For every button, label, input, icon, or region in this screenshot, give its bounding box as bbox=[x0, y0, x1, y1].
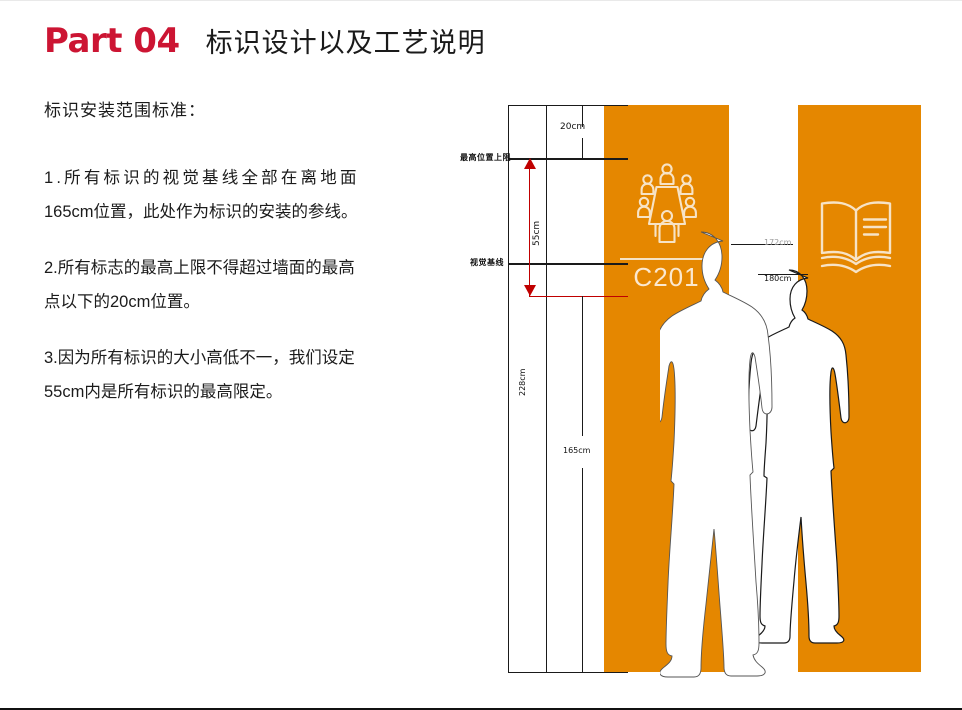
rule-1-line-2: 165cm位置，此处作为标识的安装的参线。 bbox=[44, 195, 444, 229]
part-label: Part 04 bbox=[44, 24, 180, 58]
rule-3-line-1: 3.因为所有标识的大小高低不一，我们设定 bbox=[44, 341, 444, 375]
rule-2-line-2: 点以下的20cm位置。 bbox=[44, 285, 444, 319]
dim-tick-165cm-upper bbox=[582, 296, 583, 436]
dim-label-person-b: 180cm bbox=[764, 274, 791, 283]
dim-line-wall-top bbox=[508, 105, 628, 106]
silhouette-person-a bbox=[660, 232, 772, 677]
dim-label-person-a: 172cm bbox=[764, 238, 791, 247]
rule-paragraph-1: 1.所有标识的视觉基线全部在离地面 165cm位置，此处作为标识的安装的参线。 bbox=[44, 161, 444, 229]
rule-3-line-2: 55cm内是所有标识的最高限定。 bbox=[44, 375, 444, 409]
rule-paragraph-2: 2.所有标志的最高上限不得超过墙面的最高 点以下的20cm位置。 bbox=[44, 251, 444, 319]
rule-paragraph-3: 3.因为所有标识的大小高低不一，我们设定 55cm内是所有标识的最高限定。 bbox=[44, 341, 444, 409]
dim-label-20cm: 20cm bbox=[560, 122, 585, 132]
dim-line-inner bbox=[546, 105, 547, 672]
dim-arrow-head-down bbox=[524, 285, 536, 296]
page-heading: Part 04 标识设计以及工艺说明 bbox=[44, 24, 486, 58]
label-upper-limit: 最高位置上限 bbox=[460, 152, 511, 163]
rule-2-line-1: 2.所有标志的最高上限不得超过墙面的最高 bbox=[44, 251, 444, 285]
dim-line-sign-bottom bbox=[529, 296, 628, 297]
dim-label-55cm: 55cm bbox=[532, 221, 542, 246]
dim-tick-20cm-lower bbox=[582, 138, 583, 158]
dim-arrow-head-up bbox=[524, 158, 536, 169]
rule-1-line-1: 1.所有标识的视觉基线全部在离地面 bbox=[44, 161, 444, 195]
dim-line-floor bbox=[508, 672, 628, 673]
label-visual-baseline: 视觉基线 bbox=[470, 257, 504, 268]
dim-line-visual-baseline bbox=[508, 263, 628, 265]
intro-text: 标识安装范围标准： bbox=[44, 96, 444, 121]
dim-arrow-shaft-55cm bbox=[529, 162, 530, 296]
dim-tick-165cm-lower bbox=[582, 468, 583, 672]
body-copy: 标识安装范围标准： 1.所有标识的视觉基线全部在离地面 165cm位置，此处作为… bbox=[44, 96, 444, 431]
page-title: 标识设计以及工艺说明 bbox=[206, 30, 486, 57]
human-scale-silhouettes bbox=[660, 96, 910, 680]
signage-mounting-diagram: C201 bbox=[508, 96, 954, 680]
dim-label-228cm: 228cm bbox=[518, 369, 527, 396]
dim-line-outer-left bbox=[508, 105, 509, 672]
dim-label-165cm: 165cm bbox=[563, 446, 590, 455]
slide-page: Part 04 标识设计以及工艺说明 标识安装范围标准： 1.所有标识的视觉基线… bbox=[0, 0, 962, 710]
